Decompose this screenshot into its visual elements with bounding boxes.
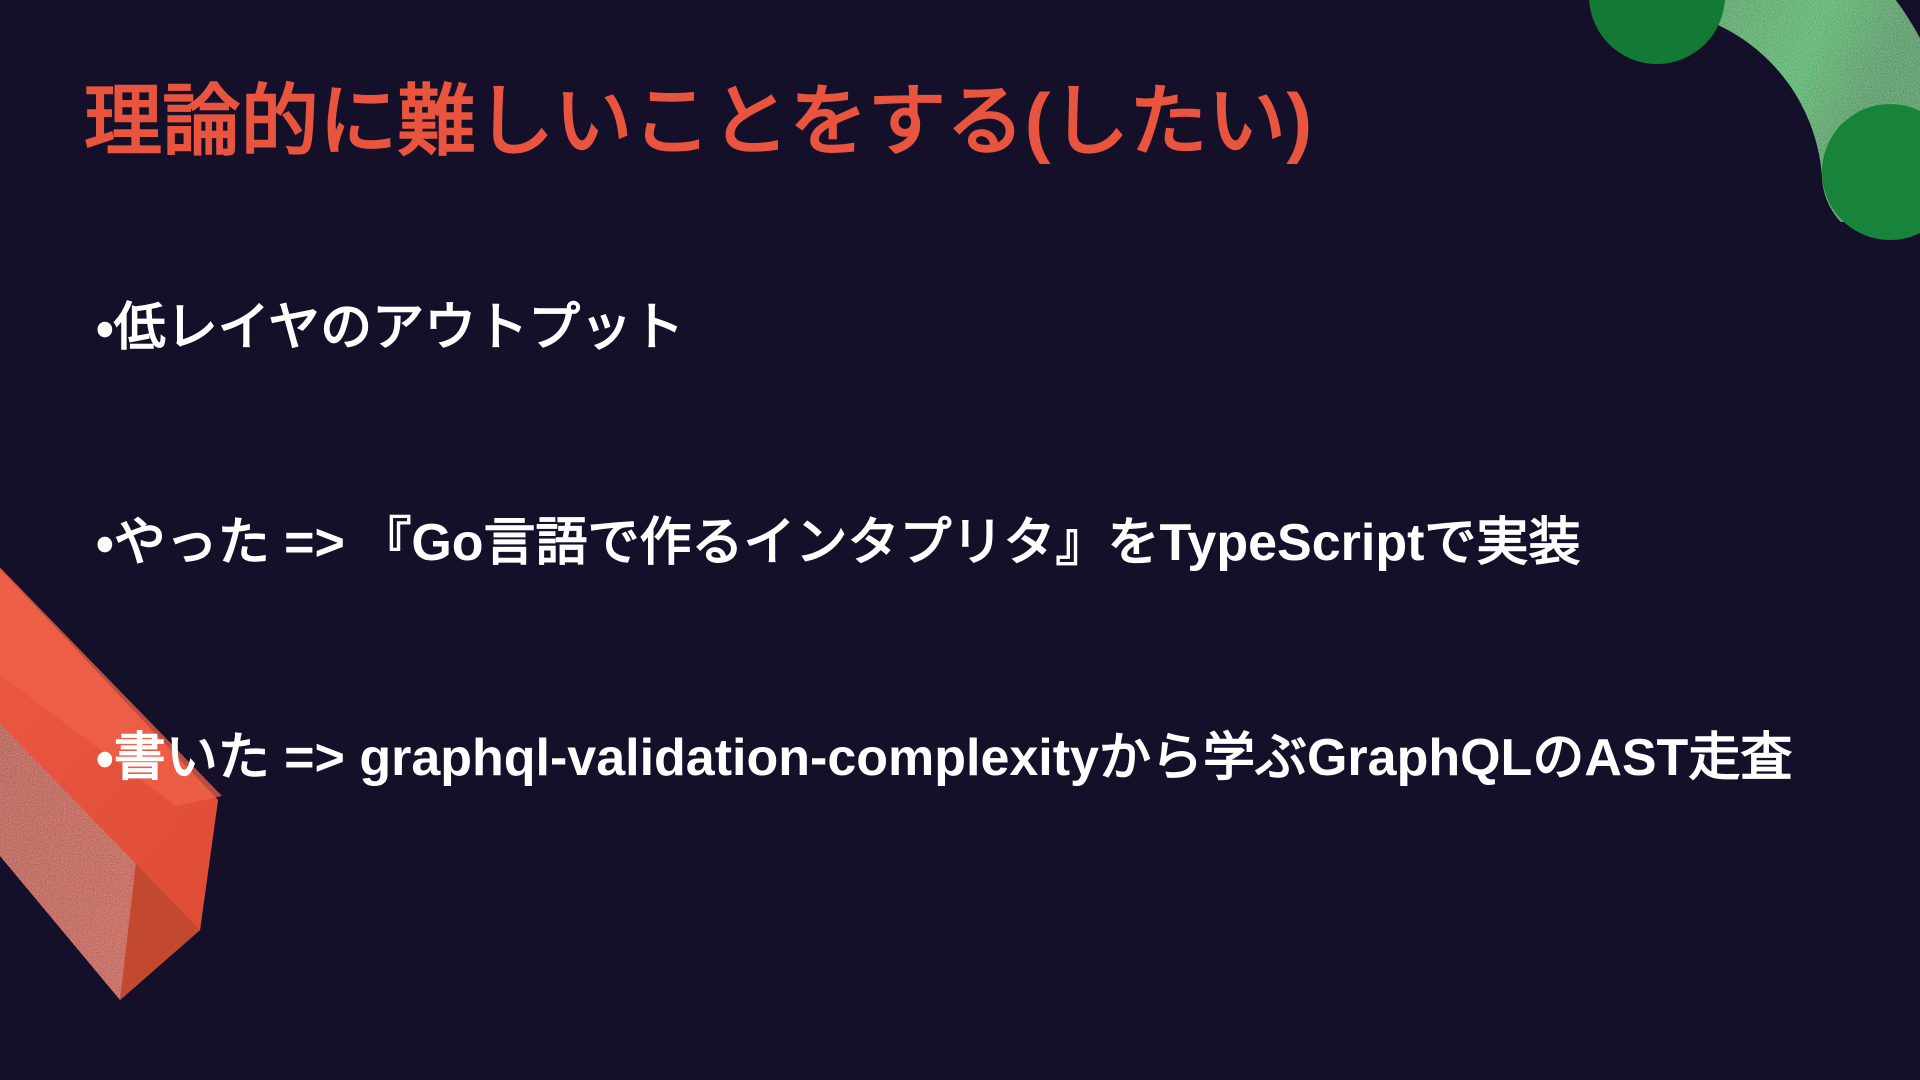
list-item: ・書いた => graphql-validation-complexityから学… — [96, 730, 1896, 945]
bullet-list: ・低レイヤのアウトプット ・やった => 『Go言語で作るインタプリタ』をTyp… — [96, 300, 1896, 945]
list-item: ・やった => 『Go言語で作るインタプリタ』をTypeScriptで実装 — [96, 515, 1896, 730]
green-arc-decoration — [1589, 0, 1920, 240]
bullet-marker: ・ — [96, 729, 114, 787]
slide-title: 理論的に難しいことをする(したい) — [84, 78, 1584, 165]
slide-canvas: 理論的に難しいことをする(したい) ・低レイヤのアウトプット ・やった => 『… — [0, 0, 1920, 1080]
bullet-text: やった => 『Go言語で作るインタプリタ』をTypeScriptで実装 — [114, 514, 1581, 572]
bullet-marker: ・ — [96, 514, 114, 572]
bullet-text: 書いた => graphql-validation-complexityから学ぶ… — [114, 729, 1793, 787]
bullet-marker: ・ — [96, 299, 114, 357]
bullet-text: 低レイヤのアウトプット — [114, 299, 684, 357]
list-item: ・低レイヤのアウトプット — [96, 300, 1896, 515]
